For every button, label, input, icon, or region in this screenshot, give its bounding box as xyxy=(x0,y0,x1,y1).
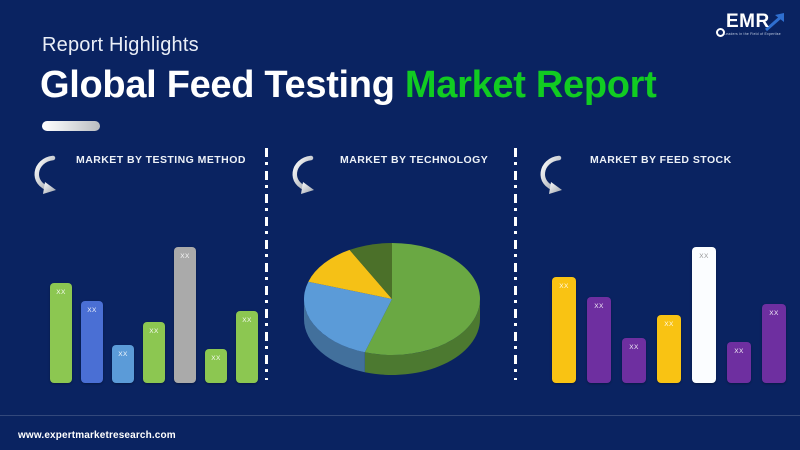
bar-5: XX xyxy=(692,247,716,383)
bar-value-label: XX xyxy=(692,253,716,260)
bar-value-label: XX xyxy=(552,283,576,290)
pie-chart-technology xyxy=(282,237,502,379)
panel-title-feed-stock: MARKET BY FEED STOCK xyxy=(590,154,732,166)
report-kicker: Report Highlights xyxy=(42,34,199,57)
curved-arrow-icon xyxy=(26,152,66,198)
bar-value-label: XX xyxy=(657,321,681,328)
bar-2: XX xyxy=(587,297,611,383)
bar-value-label: XX xyxy=(143,328,165,335)
bar-value-label: XX xyxy=(622,344,646,351)
bar-5: XX xyxy=(174,247,196,383)
bar-value-label: XX xyxy=(236,317,258,324)
footer-divider xyxy=(0,415,800,416)
infographic-canvas: Report Highlights Global Feed Testing Ma… xyxy=(0,0,800,450)
bar-value-label: XX xyxy=(205,355,227,362)
bar-6: XX xyxy=(727,342,751,383)
bar-7: XX xyxy=(762,304,786,383)
bar-value-label: XX xyxy=(174,253,196,260)
curved-arrow-icon xyxy=(532,152,572,198)
bar-2: XX xyxy=(81,301,103,383)
panel-header: MARKET BY TESTING METHOD xyxy=(18,148,258,202)
bar-value-label: XX xyxy=(762,310,786,317)
bar-value-label: XX xyxy=(112,351,134,358)
page-title-accent: Market Report xyxy=(405,64,657,106)
bar-6: XX xyxy=(205,349,227,383)
bar-4: XX xyxy=(657,315,681,383)
bar-value-label: XX xyxy=(50,289,72,296)
title-underline-pill xyxy=(42,121,100,131)
bar-chart-feed-stock: XXXXXXXXXXXXXX xyxy=(524,233,790,383)
page-title: Global Feed Testing Market Report xyxy=(40,64,657,107)
panel-title-technology: MARKET BY TECHNOLOGY xyxy=(340,154,488,166)
panel-header: MARKET BY FEED STOCK xyxy=(524,148,790,202)
bar-1: XX xyxy=(50,283,72,383)
bar-chart-testing-method: XXXXXXXXXXXXXX xyxy=(18,233,258,383)
bar-value-label: XX xyxy=(727,348,751,355)
pie-chart-svg xyxy=(282,237,502,379)
panel-title-testing-method: MARKET BY TESTING METHOD xyxy=(76,154,246,166)
bar-7: XX xyxy=(236,311,258,383)
curved-arrow-icon xyxy=(284,152,324,198)
panel-testing-method: MARKET BY TESTING METHOD XXXXXXXXXXXXXX xyxy=(18,148,258,383)
footer-url: www.expertmarketresearch.com xyxy=(18,430,176,441)
divider-right xyxy=(514,148,517,380)
panel-header: MARKET BY TECHNOLOGY xyxy=(276,148,506,202)
emr-logo-tagline: Leaders in the Field of Expertise xyxy=(724,32,781,36)
panel-feed-stock: MARKET BY FEED STOCK XXXXXXXXXXXXXX xyxy=(524,148,790,383)
panel-technology: MARKET BY TECHNOLOGY xyxy=(276,148,506,383)
emr-logo[interactable]: EMR Leaders in the Field of Expertise xyxy=(712,8,790,44)
emr-logo-text: EMR xyxy=(726,12,770,31)
bar-4: XX xyxy=(143,322,165,383)
bar-3: XX xyxy=(622,338,646,383)
divider-left xyxy=(265,148,268,380)
bar-3: XX xyxy=(112,345,134,383)
bar-value-label: XX xyxy=(587,303,611,310)
page-title-main: Global Feed Testing xyxy=(40,64,405,106)
bar-1: XX xyxy=(552,277,576,383)
bar-value-label: XX xyxy=(81,307,103,314)
